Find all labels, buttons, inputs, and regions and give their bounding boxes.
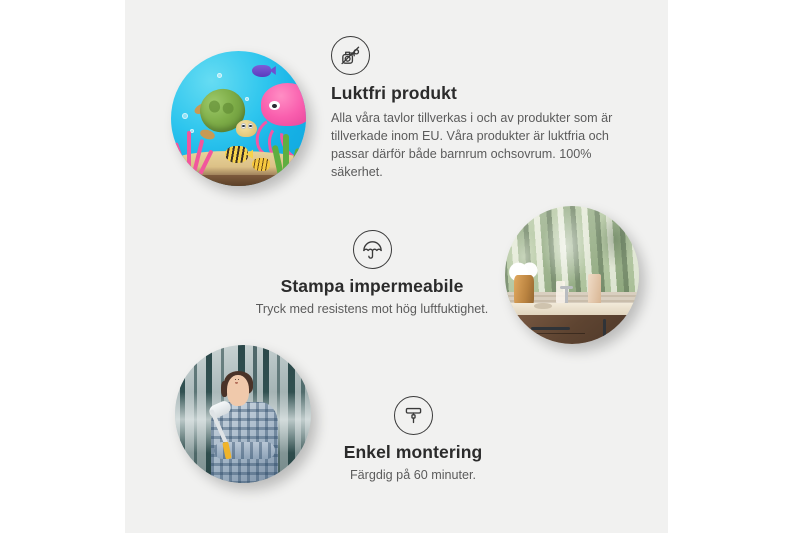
drawer-pull (531, 327, 570, 330)
no-fragrance-icon (331, 36, 370, 75)
feature-mounting: Enkel montering Färgdig på 60 minuter. (293, 396, 533, 485)
striped-fish-icon (225, 146, 248, 164)
woman-painter (208, 375, 281, 483)
feature-waterproof: Stampa impermeabile Tryck med resistens … (222, 230, 522, 319)
product-feature-panel: Luktfri produkt Alla våra tavlor tillver… (0, 0, 800, 533)
seaweed-icon (274, 132, 301, 178)
feature-title: Luktfri produkt (331, 83, 631, 104)
purple-fish-icon (252, 65, 271, 77)
feature-body: Färgdig på 60 minuter. (293, 467, 533, 485)
smile (235, 381, 238, 384)
eye (238, 379, 239, 380)
ocean-illustration (171, 51, 306, 186)
feature-title: Stampa impermeabile (222, 276, 522, 297)
forest-illustration (175, 345, 311, 483)
tumbler (556, 281, 565, 303)
feature-odorless: Luktfri produkt Alla våra tavlor tillver… (331, 36, 631, 182)
paint-roller-icon (394, 396, 433, 435)
feature-body: Alla våra tavlor tillverkas i och av pro… (331, 110, 631, 182)
octopus-eye (269, 101, 280, 110)
yellow-fish-icon (252, 158, 270, 172)
face (227, 375, 249, 405)
umbrella-icon (353, 230, 392, 269)
product-image-forest[interactable] (175, 345, 311, 483)
soap-dispenser (588, 274, 601, 304)
cabinet-pull (603, 319, 606, 338)
coral-icon (176, 127, 217, 176)
octopus-head (261, 83, 306, 125)
bubble-icon (182, 113, 188, 119)
feature-title: Enkel montering (293, 442, 533, 463)
bubble-icon (217, 73, 222, 78)
bathroom-illustration (505, 206, 639, 344)
product-image-bathroom[interactable] (505, 206, 639, 344)
feature-body: Tryck med resistens mot hög luftfuktighe… (222, 301, 522, 319)
wood-vanity (510, 315, 639, 344)
product-image-ocean[interactable] (171, 51, 306, 186)
turtle-eye (241, 123, 246, 128)
eye (235, 379, 236, 380)
